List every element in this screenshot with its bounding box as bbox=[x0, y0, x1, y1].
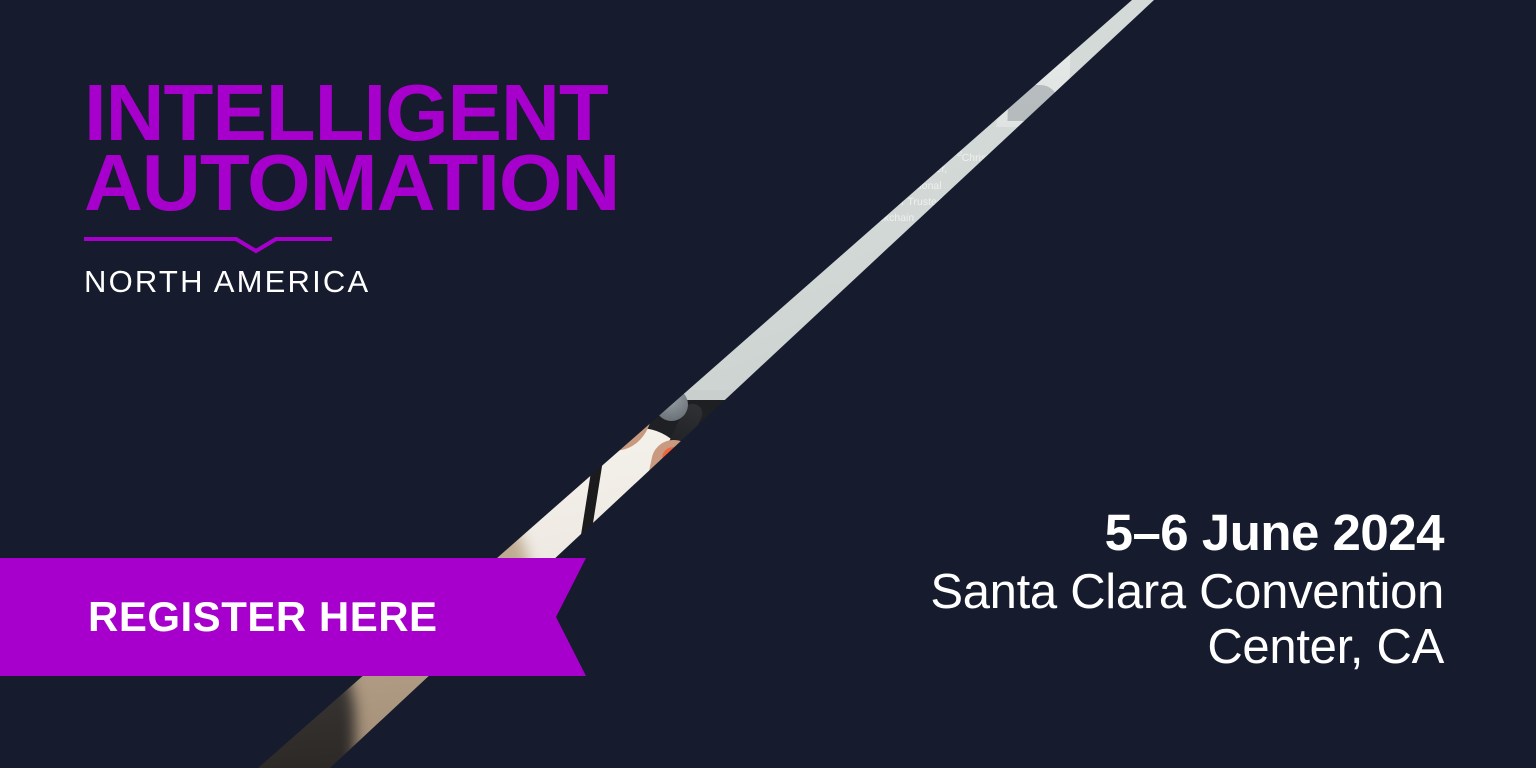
register-here-button[interactable]: REGISTER HERE bbox=[0, 558, 586, 676]
event-promo-banner: DCS ARE ...ney Lamar Williams, Finance W… bbox=[0, 0, 1536, 768]
register-here-label: REGISTER HERE bbox=[88, 593, 438, 641]
event-logo: INTELLIGENT AUTOMATION NORTH AMERICA bbox=[84, 78, 744, 300]
event-venue-line1: Santa Clara Convention bbox=[930, 565, 1444, 620]
chevron-down-divider-icon bbox=[84, 235, 332, 255]
event-details: 5–6 June 2024 Santa Clara Convention Cen… bbox=[930, 505, 1444, 675]
event-date: 5–6 June 2024 bbox=[930, 505, 1444, 561]
logo-region-label: NORTH AMERICA bbox=[84, 264, 744, 300]
event-venue-line2: Center, CA bbox=[930, 620, 1444, 675]
logo-line-automation: AUTOMATION bbox=[84, 148, 757, 218]
event-venue: Santa Clara Convention Center, CA bbox=[930, 565, 1444, 675]
